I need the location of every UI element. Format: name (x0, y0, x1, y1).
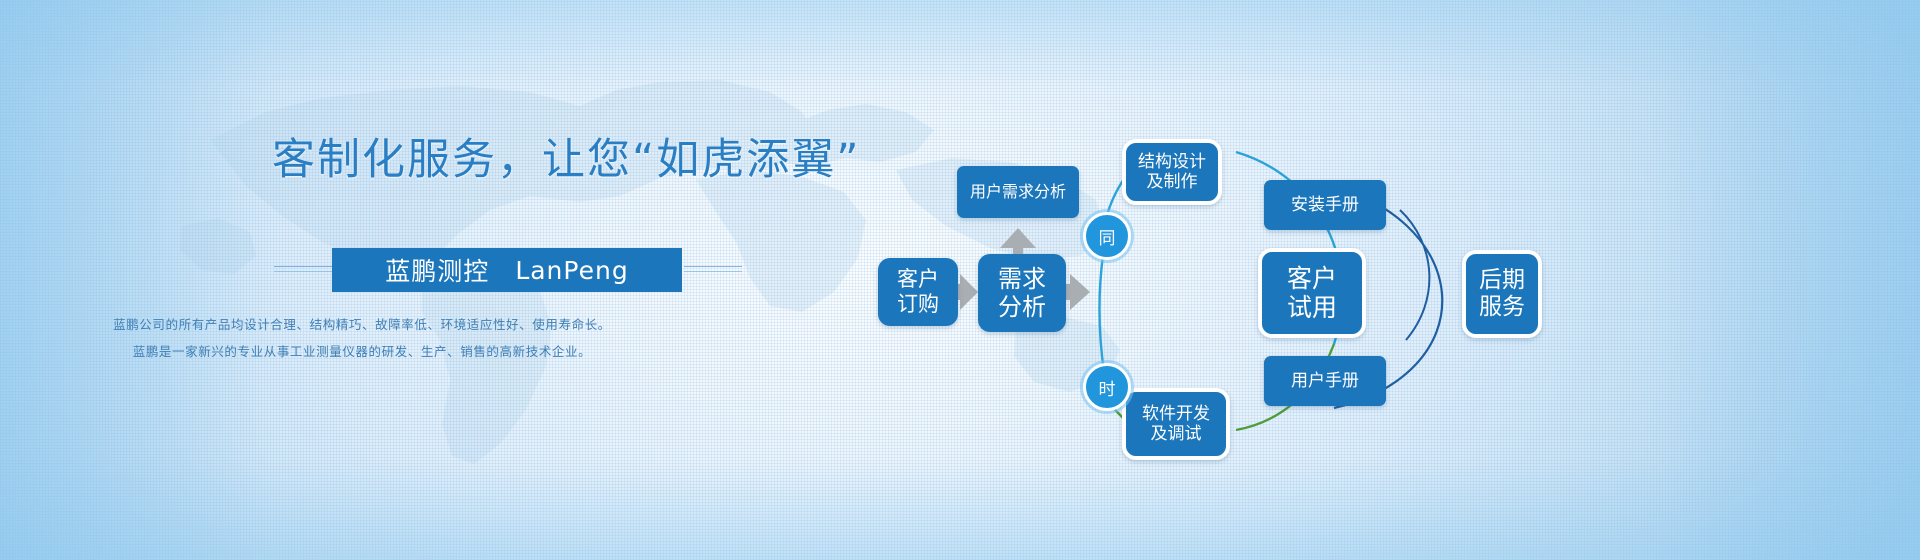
banner-canvas: 客制化服务，让您“如虎添翼” 蓝鹏测控 LanPeng 蓝鹏公司的所有产品均设计… (0, 0, 1920, 560)
flow-node-customer-trial[interactable]: 客户 试用 (1258, 248, 1366, 338)
flow-node-installation-manual[interactable]: 安装手册 (1264, 180, 1386, 230)
flow-node-label: 需求 分析 (998, 265, 1046, 322)
flow-node-user-manual[interactable]: 用户手册 (1264, 356, 1386, 406)
flow-node-label: 软件开发 及调试 (1142, 404, 1210, 444)
flow-node-label: 安装手册 (1291, 195, 1359, 215)
flow-node-label: 用户手册 (1291, 371, 1359, 391)
badge-label: 同 (1099, 224, 1116, 249)
flow-node-label: 客户 试用 (1287, 264, 1337, 323)
flow-node-label: 后期 服务 (1479, 267, 1525, 321)
flow-node-customer-order[interactable]: 客户 订购 (878, 258, 958, 326)
flow-node-software-development[interactable]: 软件开发 及调试 (1122, 388, 1230, 460)
flow-node-label: 客户 订购 (897, 267, 939, 317)
badge-label: 时 (1099, 375, 1116, 400)
badge-shi: 时 (1083, 363, 1131, 411)
flow-node-label: 结构设计 及制作 (1138, 152, 1206, 192)
flow-connectors (0, 0, 1920, 560)
flow-node-structural-design[interactable]: 结构设计 及制作 (1122, 139, 1222, 205)
flow-node-after-sales-service[interactable]: 后期 服务 (1462, 250, 1542, 338)
badge-tong: 同 (1083, 212, 1131, 260)
flow-node-label: 用户需求分析 (970, 183, 1066, 202)
flow-node-requirement-analysis[interactable]: 需求 分析 (978, 254, 1066, 332)
flow-node-user-requirement-analysis[interactable]: 用户需求分析 (957, 166, 1079, 218)
